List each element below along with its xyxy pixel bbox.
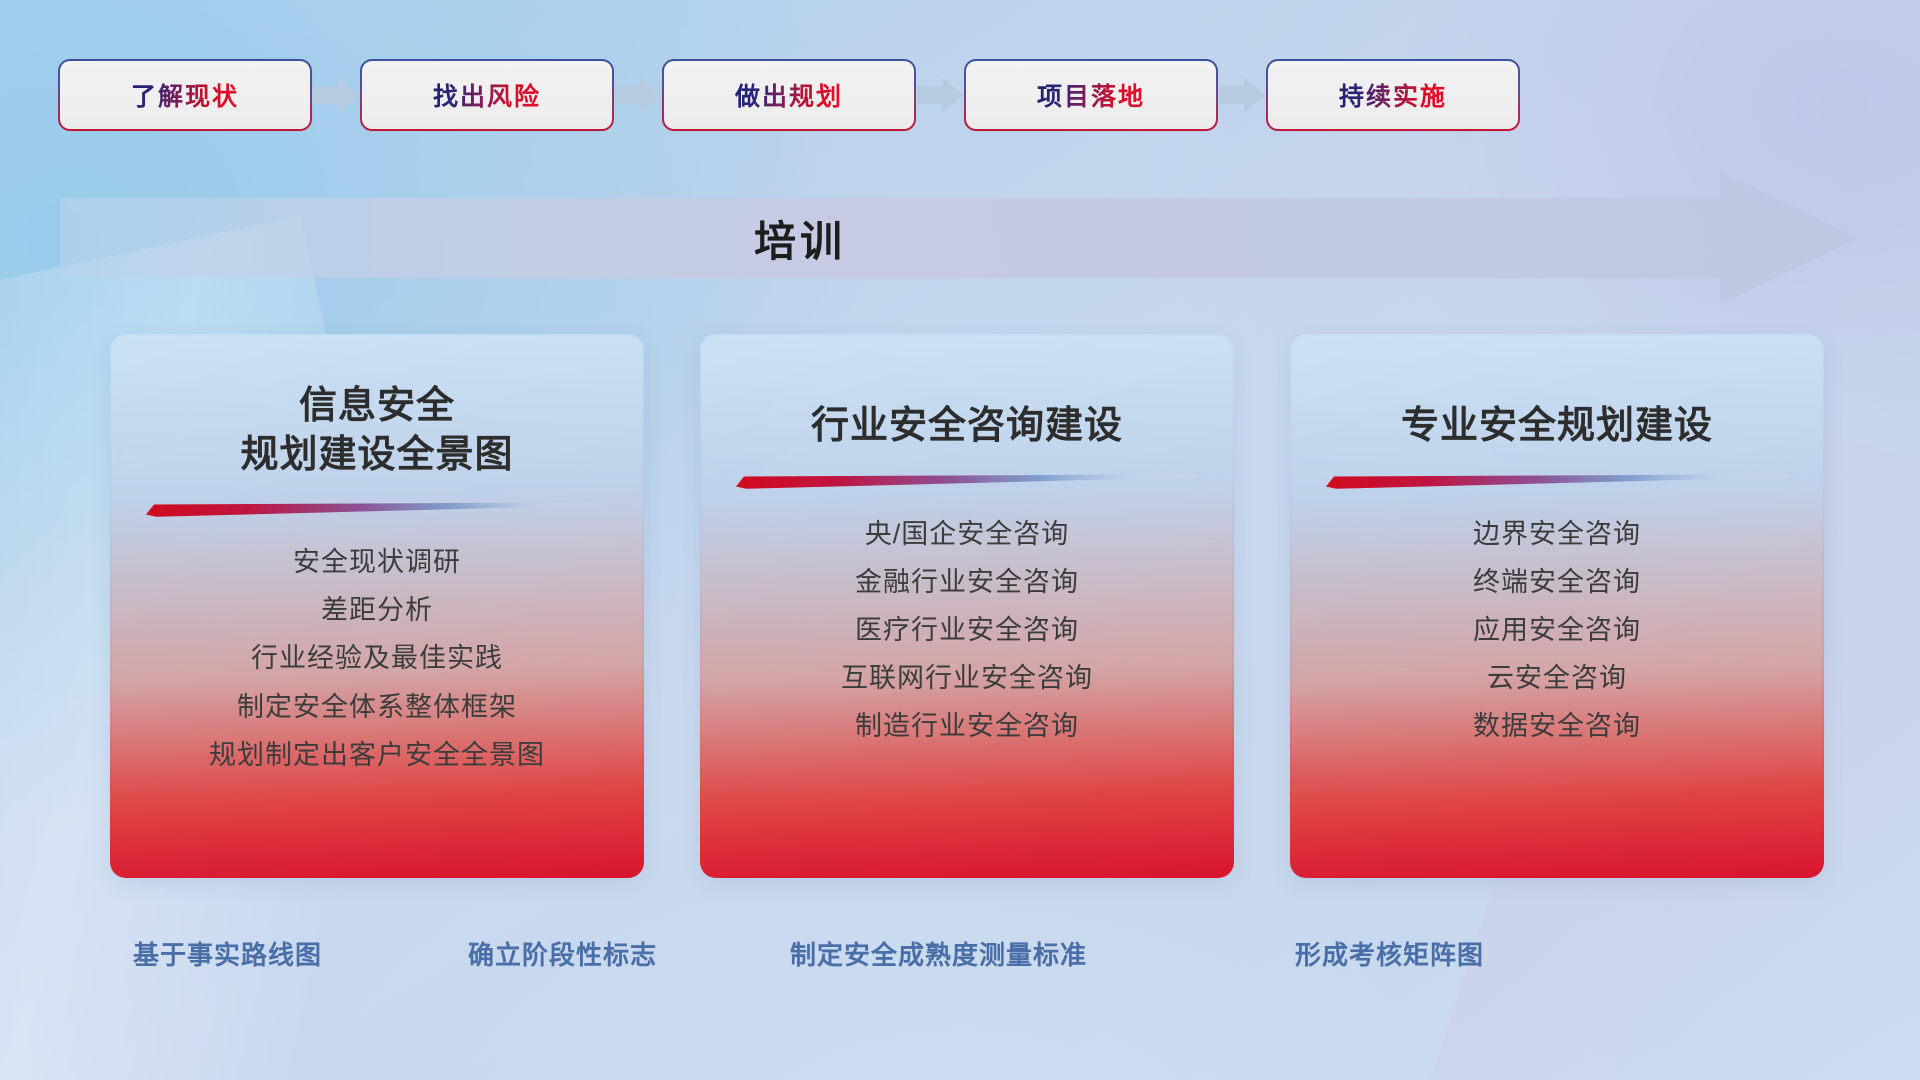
list-item: 安全现状调研 bbox=[293, 541, 461, 583]
step-label: 项目落地 bbox=[1037, 77, 1145, 113]
card-divider bbox=[146, 501, 608, 517]
list-item: 终端安全咨询 bbox=[1473, 561, 1641, 603]
footer-label-roadmap: 基于事实路线图 bbox=[133, 935, 322, 972]
step-box-4[interactable]: 项目落地 bbox=[966, 61, 1216, 129]
card-title: 信息安全 规划建设全景图 bbox=[240, 382, 513, 479]
step-box-5[interactable]: 持续实施 bbox=[1268, 61, 1518, 129]
list-item: 制造行业安全咨询 bbox=[855, 705, 1079, 747]
process-step-row: 了解现状 找出风险 做出规划 项目落地 bbox=[60, 61, 1860, 129]
card-divider bbox=[1326, 473, 1788, 489]
card-industry-consulting[interactable]: 行业安全咨询建设 bbox=[702, 336, 1232, 876]
list-item: 互联网行业安全咨询 bbox=[841, 657, 1093, 699]
step-box-2[interactable]: 找出风险 bbox=[362, 61, 612, 129]
card-group: 信息安全 规划建设全景图 bbox=[112, 336, 1822, 876]
list-item: 规划制定出客户安全全景图 bbox=[209, 734, 545, 776]
footer-label-row: 基于事实路线图 确立阶段性标志 制定安全成熟度测量标准 形成考核矩阵图 bbox=[0, 935, 1920, 981]
step-box-1[interactable]: 了解现状 bbox=[60, 61, 310, 129]
footer-label-milestone: 确立阶段性标志 bbox=[468, 935, 657, 972]
right-arrow-icon bbox=[914, 76, 966, 114]
step-label: 持续实施 bbox=[1339, 77, 1447, 113]
step-label: 找出风险 bbox=[433, 77, 541, 113]
step-label: 了解现状 bbox=[131, 77, 239, 113]
card-professional-planning[interactable]: 专业安全规划建设 bbox=[1292, 336, 1822, 876]
list-item: 金融行业安全咨询 bbox=[855, 561, 1079, 603]
card-divider bbox=[736, 473, 1198, 489]
right-arrow-icon bbox=[1216, 76, 1268, 114]
footer-label-matrix: 形成考核矩阵图 bbox=[1295, 935, 1484, 972]
list-item: 医疗行业安全咨询 bbox=[855, 609, 1079, 651]
step-label: 做出规划 bbox=[735, 77, 843, 113]
right-arrow-icon bbox=[310, 76, 362, 114]
list-item: 数据安全咨询 bbox=[1473, 705, 1641, 747]
step-box-3[interactable]: 做出规划 bbox=[664, 61, 914, 129]
card-item-list: 安全现状调研 差距分析 行业经验及最佳实践 制定安全体系整体框架 规划制定出客户… bbox=[146, 541, 608, 776]
list-item: 应用安全咨询 bbox=[1473, 609, 1641, 651]
list-item: 云安全咨询 bbox=[1487, 657, 1627, 699]
list-item: 制定安全体系整体框架 bbox=[237, 686, 517, 728]
card-item-list: 央/国企安全咨询 金融行业安全咨询 医疗行业安全咨询 互联网行业安全咨询 制造行… bbox=[736, 513, 1198, 748]
training-banner: 培训 bbox=[60, 172, 1860, 304]
slide-canvas: 了解现状 找出风险 做出规划 项目落地 bbox=[0, 0, 1920, 1080]
right-arrow-icon bbox=[612, 76, 664, 114]
card-panorama[interactable]: 信息安全 规划建设全景图 bbox=[112, 336, 642, 876]
list-item: 行业经验及最佳实践 bbox=[251, 637, 503, 679]
card-item-list: 边界安全咨询 终端安全咨询 应用安全咨询 云安全咨询 数据安全咨询 bbox=[1326, 513, 1788, 748]
list-item: 边界安全咨询 bbox=[1473, 513, 1641, 555]
banner-title: 培训 bbox=[60, 172, 1540, 304]
list-item: 差距分析 bbox=[321, 589, 433, 631]
footer-label-maturity: 制定安全成熟度测量标准 bbox=[790, 935, 1087, 972]
card-title: 专业安全规划建设 bbox=[1401, 402, 1713, 451]
list-item: 央/国企安全咨询 bbox=[865, 513, 1070, 555]
card-title: 行业安全咨询建设 bbox=[811, 402, 1123, 451]
